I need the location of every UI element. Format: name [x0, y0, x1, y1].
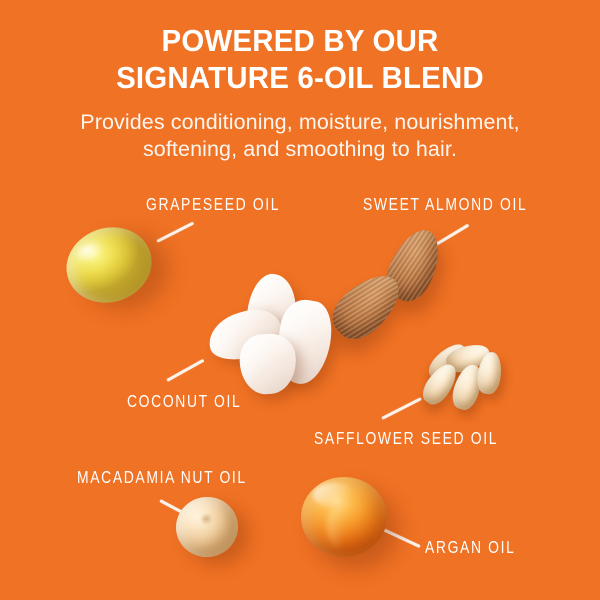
coconut-flake-piece [238, 332, 298, 396]
macadamia-nut-icon [172, 493, 242, 561]
connector-line-coconut [166, 359, 204, 382]
promo-graphic: POWERED BY OUR SIGNATURE 6-OIL BLEND Pro… [0, 0, 600, 600]
page-title-line1: POWERED BY OUR [15, 22, 585, 59]
header: POWERED BY OUR SIGNATURE 6-OIL BLEND Pro… [0, 22, 600, 163]
page-title-line2: SIGNATURE 6-OIL BLEND [15, 59, 585, 96]
label-macadamia-nut-oil: MACADAMIA NUT OIL [77, 468, 247, 488]
coconut-flake-icon [202, 272, 338, 400]
label-grapeseed-oil: GRAPESEED OIL [146, 195, 280, 215]
connector-line-grapeseed [156, 222, 194, 243]
label-argan-oil: ARGAN OIL [425, 538, 515, 558]
subtitle: Provides conditioning, moisture, nourish… [0, 109, 600, 163]
oil-droplet-icon [301, 477, 387, 557]
connector-line-safflower [381, 397, 422, 420]
connector-line-argan [380, 527, 420, 548]
subtitle-line1: Provides conditioning, moisture, nourish… [0, 109, 600, 136]
label-safflower-seed-oil: SAFFLOWER SEED OIL [314, 429, 498, 449]
grape-icon [57, 217, 162, 314]
subtitle-line2: softening, and smoothing to hair. [0, 136, 600, 163]
label-sweet-almond-oil: SWEET ALMOND OIL [363, 195, 527, 215]
